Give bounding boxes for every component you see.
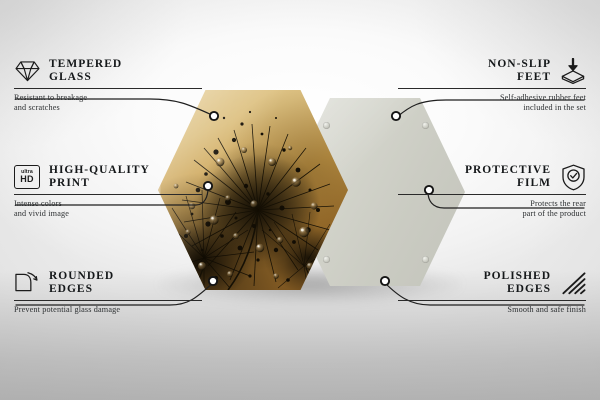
feature-divider [14, 300, 202, 301]
feature-polished-edges: POLISHED EDGES Smooth and safe finish [398, 270, 586, 315]
shield-check-icon [560, 164, 586, 190]
feature-header: PROTECTIVE FILM [398, 164, 586, 190]
feature-description: Intense colors and vivid image [14, 199, 202, 219]
ultra-hd-icon-bottom-text: HD [20, 175, 33, 184]
feature-header: ROUNDED EDGES [14, 270, 202, 296]
feature-divider [398, 88, 586, 89]
feature-tempered-glass: TEMPERED GLASS Resistant to breakage and… [14, 58, 202, 113]
feature-divider [14, 88, 202, 89]
diagonal-hatch-icon [560, 270, 586, 296]
feature-non-slip-feet: NON-SLIP FEET Self-adhesive rubber feet … [398, 58, 586, 113]
mount-hole [422, 122, 429, 129]
feature-description: Smooth and safe finish [398, 305, 586, 315]
ultra-hd-icon: ultra HD [14, 164, 40, 190]
feature-divider [398, 194, 586, 195]
feature-header: NON-SLIP FEET [398, 58, 586, 84]
feature-divider [14, 194, 202, 195]
rounded-corner-icon [14, 270, 40, 296]
feature-description: Protects the rear part of the product [398, 199, 586, 219]
infographic-canvas: TEMPERED GLASS Resistant to breakage and… [0, 0, 600, 400]
feature-title: PROTECTIVE FILM [465, 164, 551, 190]
feature-description: Prevent potential glass damage [14, 305, 202, 315]
mount-hole [323, 256, 330, 263]
feature-high-quality-print: ultra HD HIGH-QUALITY PRINT Intense colo… [14, 164, 202, 219]
feature-divider [398, 300, 586, 301]
mount-hole [323, 122, 330, 129]
feature-description: Resistant to breakage and scratches [14, 93, 202, 113]
feature-title: ROUNDED EDGES [49, 270, 114, 296]
feature-title: TEMPERED GLASS [49, 58, 122, 84]
feature-header: POLISHED EDGES [398, 270, 586, 296]
mount-hole [422, 256, 429, 263]
feature-title: POLISHED EDGES [484, 270, 551, 296]
feature-title: NON-SLIP FEET [488, 58, 551, 84]
feature-header: ultra HD HIGH-QUALITY PRINT [14, 164, 202, 190]
feature-protective-film: PROTECTIVE FILM Protects the rear part o… [398, 164, 586, 219]
feature-rounded-edges: ROUNDED EDGES Prevent potential glass da… [14, 270, 202, 315]
feature-description: Self-adhesive rubber feet included in th… [398, 93, 586, 113]
feature-header: TEMPERED GLASS [14, 58, 202, 84]
press-down-pad-icon [560, 58, 586, 84]
diamond-icon [14, 58, 40, 84]
feature-title: HIGH-QUALITY PRINT [49, 164, 150, 190]
